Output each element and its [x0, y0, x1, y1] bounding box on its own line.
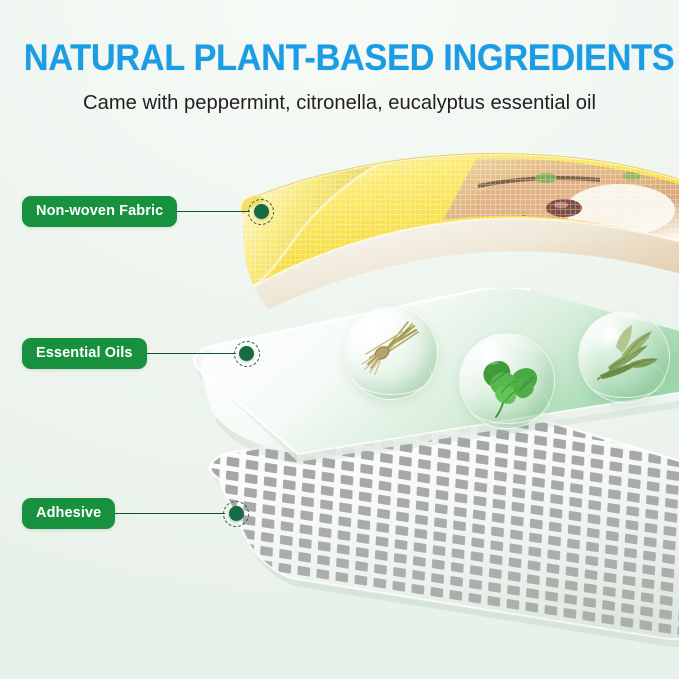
- label-non-woven-fabric[interactable]: Non-woven Fabric: [22, 196, 177, 227]
- infographic-canvas: NATURAL PLANT-BASED INGREDIENTS Came wit…: [0, 0, 679, 679]
- bubble-eucalyptus: [578, 311, 670, 403]
- bubble-citronella: [344, 306, 438, 400]
- marker-dot-icon: [239, 346, 254, 361]
- bubble-rim: [467, 383, 550, 424]
- marker-non-woven-fabric[interactable]: [248, 199, 274, 225]
- page-subtitle: Came with peppermint, citronella, eucaly…: [5, 78, 674, 115]
- callout-adhesive[interactable]: Adhesive: [22, 498, 249, 529]
- fabric-patch-illustration: [228, 152, 679, 317]
- callout-non-woven-fabric[interactable]: Non-woven Fabric: [22, 196, 274, 227]
- marker-adhesive[interactable]: [223, 501, 249, 527]
- bubble-highlight: [478, 346, 505, 364]
- bubble-rim: [585, 359, 664, 399]
- marker-dot-icon: [254, 204, 269, 219]
- non-woven-fabric-layer: [228, 152, 679, 317]
- label-essential-oils[interactable]: Essential Oils: [22, 338, 147, 369]
- marker-dot-icon: [229, 506, 244, 521]
- leader-line: [177, 211, 250, 213]
- leader-line: [147, 353, 236, 355]
- leader-line: [115, 513, 225, 515]
- bubble-highlight: [365, 321, 389, 338]
- page-title: NATURAL PLANT-BASED INGREDIENTS: [24, 0, 655, 78]
- header: NATURAL PLANT-BASED INGREDIENTS Came wit…: [0, 0, 679, 115]
- callout-essential-oils[interactable]: Essential Oils: [22, 338, 260, 369]
- marker-essential-oils[interactable]: [234, 341, 260, 367]
- bubble-peppermint: [459, 333, 555, 429]
- label-adhesive[interactable]: Adhesive: [22, 498, 115, 529]
